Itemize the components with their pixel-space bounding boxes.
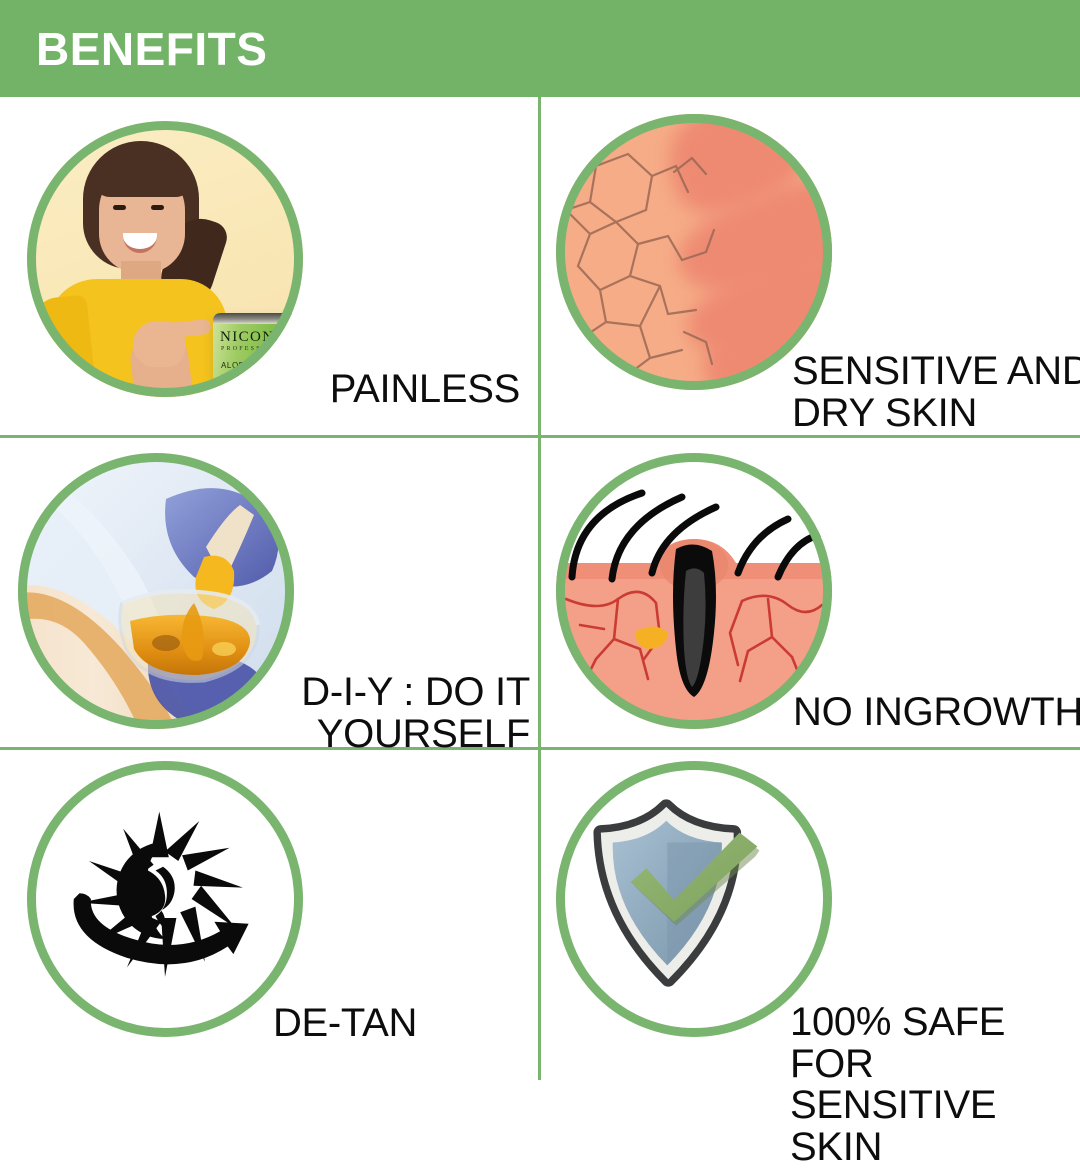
tin-lid xyxy=(213,313,301,324)
benefit-label-sensitive-dry-skin: SENSITIVE AND DRY SKIN xyxy=(792,351,1080,434)
painless-image-circle: NICONI PROFESSIONAL ALOE VERA PAINLESS L… xyxy=(27,121,303,397)
de-tan-image-circle xyxy=(27,761,303,1037)
tin-brand-subtitle: PROFESSIONAL xyxy=(221,346,291,352)
benefit-cell-painless[interactable]: NICONI PROFESSIONAL ALOE VERA PAINLESS L… xyxy=(0,97,538,435)
benefits-infographic: BENEFITS xyxy=(0,0,1080,1080)
follicle-illustration xyxy=(556,453,832,729)
shield-with-checkmark-icon xyxy=(585,794,803,1004)
sun-with-face-and-orbit-arrow-icon xyxy=(60,804,270,994)
benefit-cell-safe-sensitive-skin[interactable]: 100% SAFE FOR SENSITIVE SKIN xyxy=(541,750,1079,1080)
benefit-label-diy: D-I-Y : DO IT YOURSELF xyxy=(200,672,530,755)
skin-cracks xyxy=(556,114,832,390)
header-banner: BENEFITS xyxy=(0,0,1080,97)
woman-eye-left xyxy=(113,205,126,210)
woman-sleeve xyxy=(30,294,95,391)
no-ingrowth-image-circle xyxy=(556,453,832,729)
tin-brand-name: NICONI xyxy=(220,329,281,346)
safe-image-circle xyxy=(556,761,832,1037)
dry-skin-image-circle xyxy=(556,114,832,390)
benefit-cell-sensitive-dry-skin[interactable]: SENSITIVE AND DRY SKIN xyxy=(541,97,1079,435)
benefit-label-safe-sensitive-skin: 100% SAFE FOR SENSITIVE SKIN xyxy=(790,1002,1080,1168)
woman-eye-right xyxy=(151,205,164,210)
benefit-label-de-tan: DE-TAN xyxy=(200,1003,490,1045)
benefit-cell-de-tan[interactable]: DE-TAN xyxy=(0,750,538,1080)
benefit-cell-diy[interactable]: D-I-Y : DO IT YOURSELF xyxy=(0,438,538,747)
woman-fringe xyxy=(93,155,191,197)
page-title: BENEFITS xyxy=(36,26,267,72)
benefits-grid: NICONI PROFESSIONAL ALOE VERA PAINLESS L… xyxy=(0,97,1080,1080)
benefit-label-no-ingrowth: NO INGROWTH xyxy=(793,692,1080,734)
benefit-label-painless: PAINLESS xyxy=(200,369,520,411)
benefit-cell-no-ingrowth[interactable]: NO INGROWTH xyxy=(541,438,1079,747)
